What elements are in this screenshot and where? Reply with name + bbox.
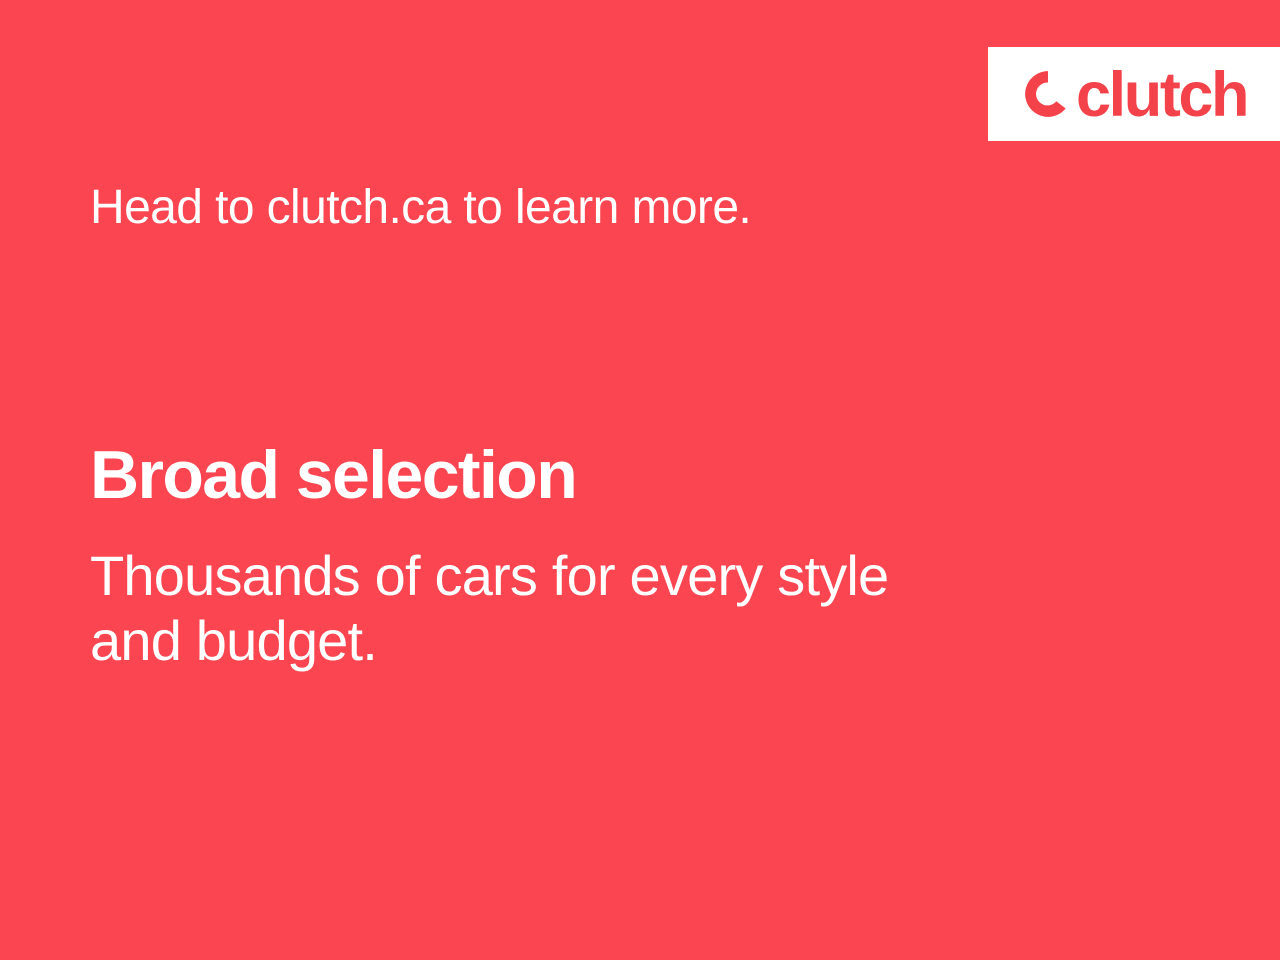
- clutch-logo-badge: clutch: [988, 47, 1280, 141]
- subheading: Thousands of cars for every style and bu…: [90, 544, 1050, 674]
- clutch-wordmark: clutch: [1076, 64, 1247, 127]
- eyebrow-text: Head to clutch.ca to learn more.: [90, 182, 751, 235]
- subheading-line-2: and budget.: [90, 609, 1050, 674]
- subheading-line-1: Thousands of cars for every style: [90, 544, 1050, 609]
- promo-slide: clutch Head to clutch.ca to learn more. …: [0, 0, 1280, 960]
- clutch-c-mark-icon: [1022, 68, 1074, 120]
- clutch-logo-lockup: clutch: [1022, 63, 1247, 126]
- page-title: Broad selection: [90, 440, 576, 511]
